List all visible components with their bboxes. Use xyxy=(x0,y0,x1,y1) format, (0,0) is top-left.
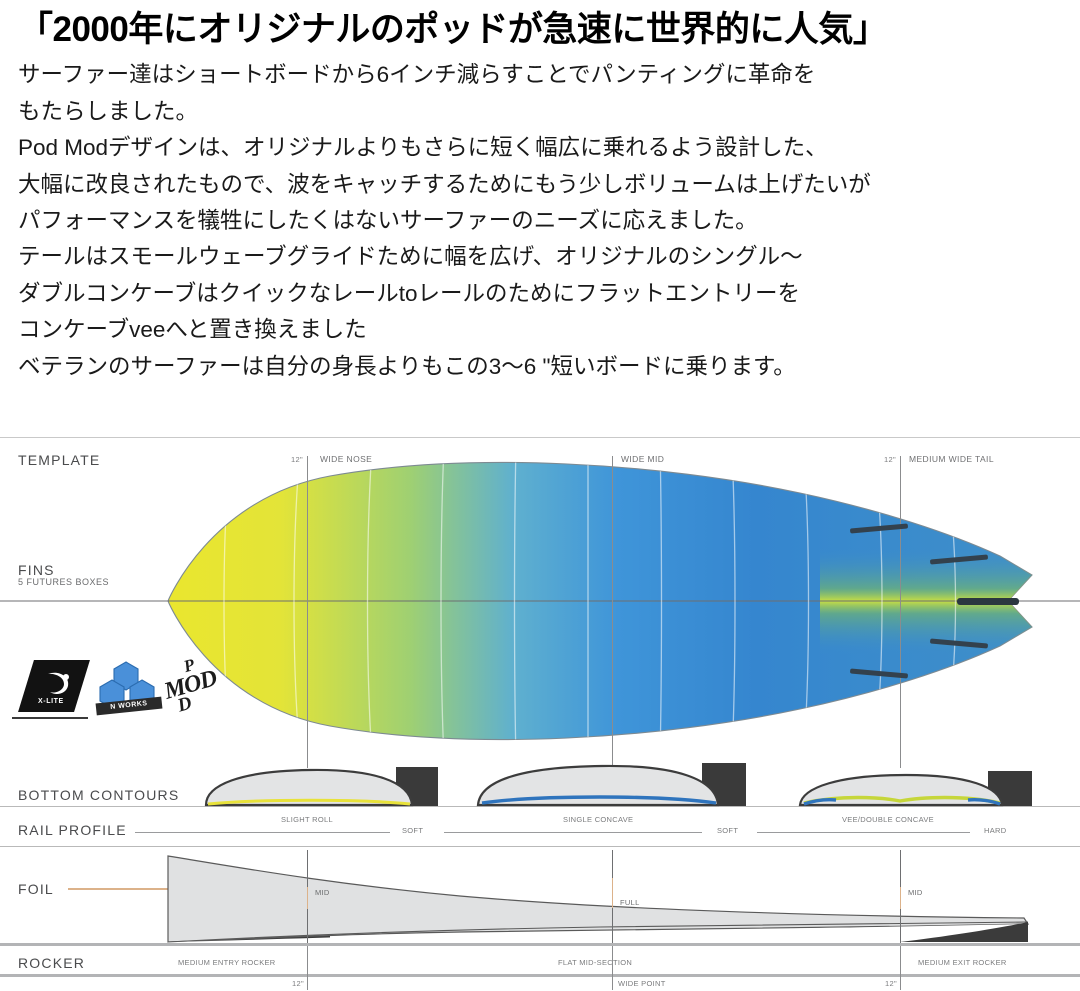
row-sublabel-futures-boxes: 5 FUTURES BOXES xyxy=(18,577,109,587)
bottom-contours-svg xyxy=(0,745,1080,807)
axis-tick-left-12in: 12" xyxy=(292,979,304,988)
rail-line-segment-2 xyxy=(444,832,702,833)
surfboard-spec-diagram: TEMPLATE 12" WIDE NOSE WIDE MID 12" MEDI… xyxy=(0,437,1080,991)
body-line: ベテランのサーファーは自分の身長よりもこの3〜6 "短いボードに乗ります。 xyxy=(18,349,1062,385)
contour-label-vee-double-concave: VEE/DOUBLE CONCAVE xyxy=(842,815,934,824)
label-wide-nose: WIDE NOSE xyxy=(320,454,372,464)
contour-section-vee-double-concave xyxy=(800,771,1032,806)
rail-label-hard: HARD xyxy=(984,826,1006,835)
divider-below-rocker xyxy=(0,974,1080,977)
foil-tick-exit xyxy=(900,887,901,909)
xlite-underline xyxy=(12,717,88,719)
article-text-block: 「2000年にオリジナルのポッドが急速に世界的に人気」 サーファー達はショートボ… xyxy=(0,0,1080,385)
row-label-template: TEMPLATE xyxy=(18,452,100,468)
body-line: ダブルコンケーブはクイックなレールtoレールのためにフラットエントリーを xyxy=(18,276,1062,312)
row-label-rocker: ROCKER xyxy=(18,955,85,971)
contour-section-slight-roll xyxy=(206,767,438,806)
hex-works-logo: N WORKS xyxy=(96,660,162,718)
foil-label-mid-entry: MID xyxy=(315,888,330,897)
rocker-label-medium-entry: MEDIUM ENTRY ROCKER xyxy=(178,958,276,967)
guide-12in-nose xyxy=(307,456,308,768)
row-label-fins: FINS xyxy=(18,562,55,578)
divider-below-rail-profile xyxy=(0,846,1080,847)
body-line: パフォーマンスを犠牲にしたくはないサーファーのニーズに応えました。 xyxy=(18,203,1062,239)
brand-logos xyxy=(0,438,1080,439)
axis-guide-right xyxy=(900,946,901,990)
contour-section-single-concave xyxy=(478,763,746,806)
axis-guide-left xyxy=(307,946,308,990)
rocker-label-flat-mid: FLAT MID-SECTION xyxy=(558,958,632,967)
divider-above-rocker xyxy=(0,943,1080,946)
row-label-rail-profile: RAIL PROFILE xyxy=(18,822,127,838)
body-line: 大幅に改良されたもので、波をキャッチするためにもう少しボリュームは上げたいが xyxy=(18,167,1062,203)
tick-label-nose-12in: 12" xyxy=(291,455,303,464)
foil-tick-wide xyxy=(612,878,613,908)
label-wide-mid: WIDE MID xyxy=(621,454,664,464)
axis-label-wide-point: WIDE POINT xyxy=(618,979,666,988)
rail-line-segment-3 xyxy=(757,832,970,833)
body-line: もたらしました。 xyxy=(18,94,1062,130)
article-body: サーファー達はショートボードから6インチ減らすことでパンティングに革命を もたら… xyxy=(18,57,1062,385)
board-outline-svg xyxy=(0,438,1080,768)
rail-line-segment-1 xyxy=(135,832,390,833)
body-line: Pod Modデザインは、オリジナルよりもさらに短く幅広に乗れるよう設計した、 xyxy=(18,130,1062,166)
body-line: サーファー達はショートボードから6インチ減らすことでパンティングに革命を xyxy=(18,57,1062,93)
page-headline: 「2000年にオリジナルのポッドが急速に世界的に人気」 xyxy=(18,10,1062,49)
body-line: コンケーブveeへと置き換えました xyxy=(18,312,1062,348)
foil-rocker-profile-svg xyxy=(0,848,1080,968)
rocker-label-medium-exit: MEDIUM EXIT ROCKER xyxy=(918,958,1007,967)
guide-wide-mid xyxy=(612,456,613,768)
axis-guide-center xyxy=(612,946,613,990)
xlite-swoosh-icon xyxy=(22,660,86,718)
contour-label-slight-roll: SLIGHT ROLL xyxy=(281,815,333,824)
foil-tick-entry xyxy=(307,887,308,909)
rail-label-soft-2: SOFT xyxy=(717,826,738,835)
body-line: テールはスモールウェーブグライドために幅を広げ、オリジナルのシングル〜 xyxy=(18,239,1062,275)
guide-12in-tail xyxy=(900,456,901,768)
xlite-logo-text: X-LITE xyxy=(38,698,64,705)
xlite-logo: X-LITE xyxy=(22,660,86,718)
pod-mod-logo: P MOD D xyxy=(164,656,224,718)
foil-label-full: FULL xyxy=(620,898,640,907)
axis-tick-right-12in: 12" xyxy=(885,979,897,988)
rail-label-soft-1: SOFT xyxy=(402,826,423,835)
fin-box-center xyxy=(957,598,1019,605)
label-medium-wide-tail: MEDIUM WIDE TAIL xyxy=(909,454,994,464)
tick-label-tail-12in: 12" xyxy=(884,455,896,464)
contour-label-single-concave: SINGLE CONCAVE xyxy=(563,815,633,824)
foil-label-mid-exit: MID xyxy=(908,888,923,897)
